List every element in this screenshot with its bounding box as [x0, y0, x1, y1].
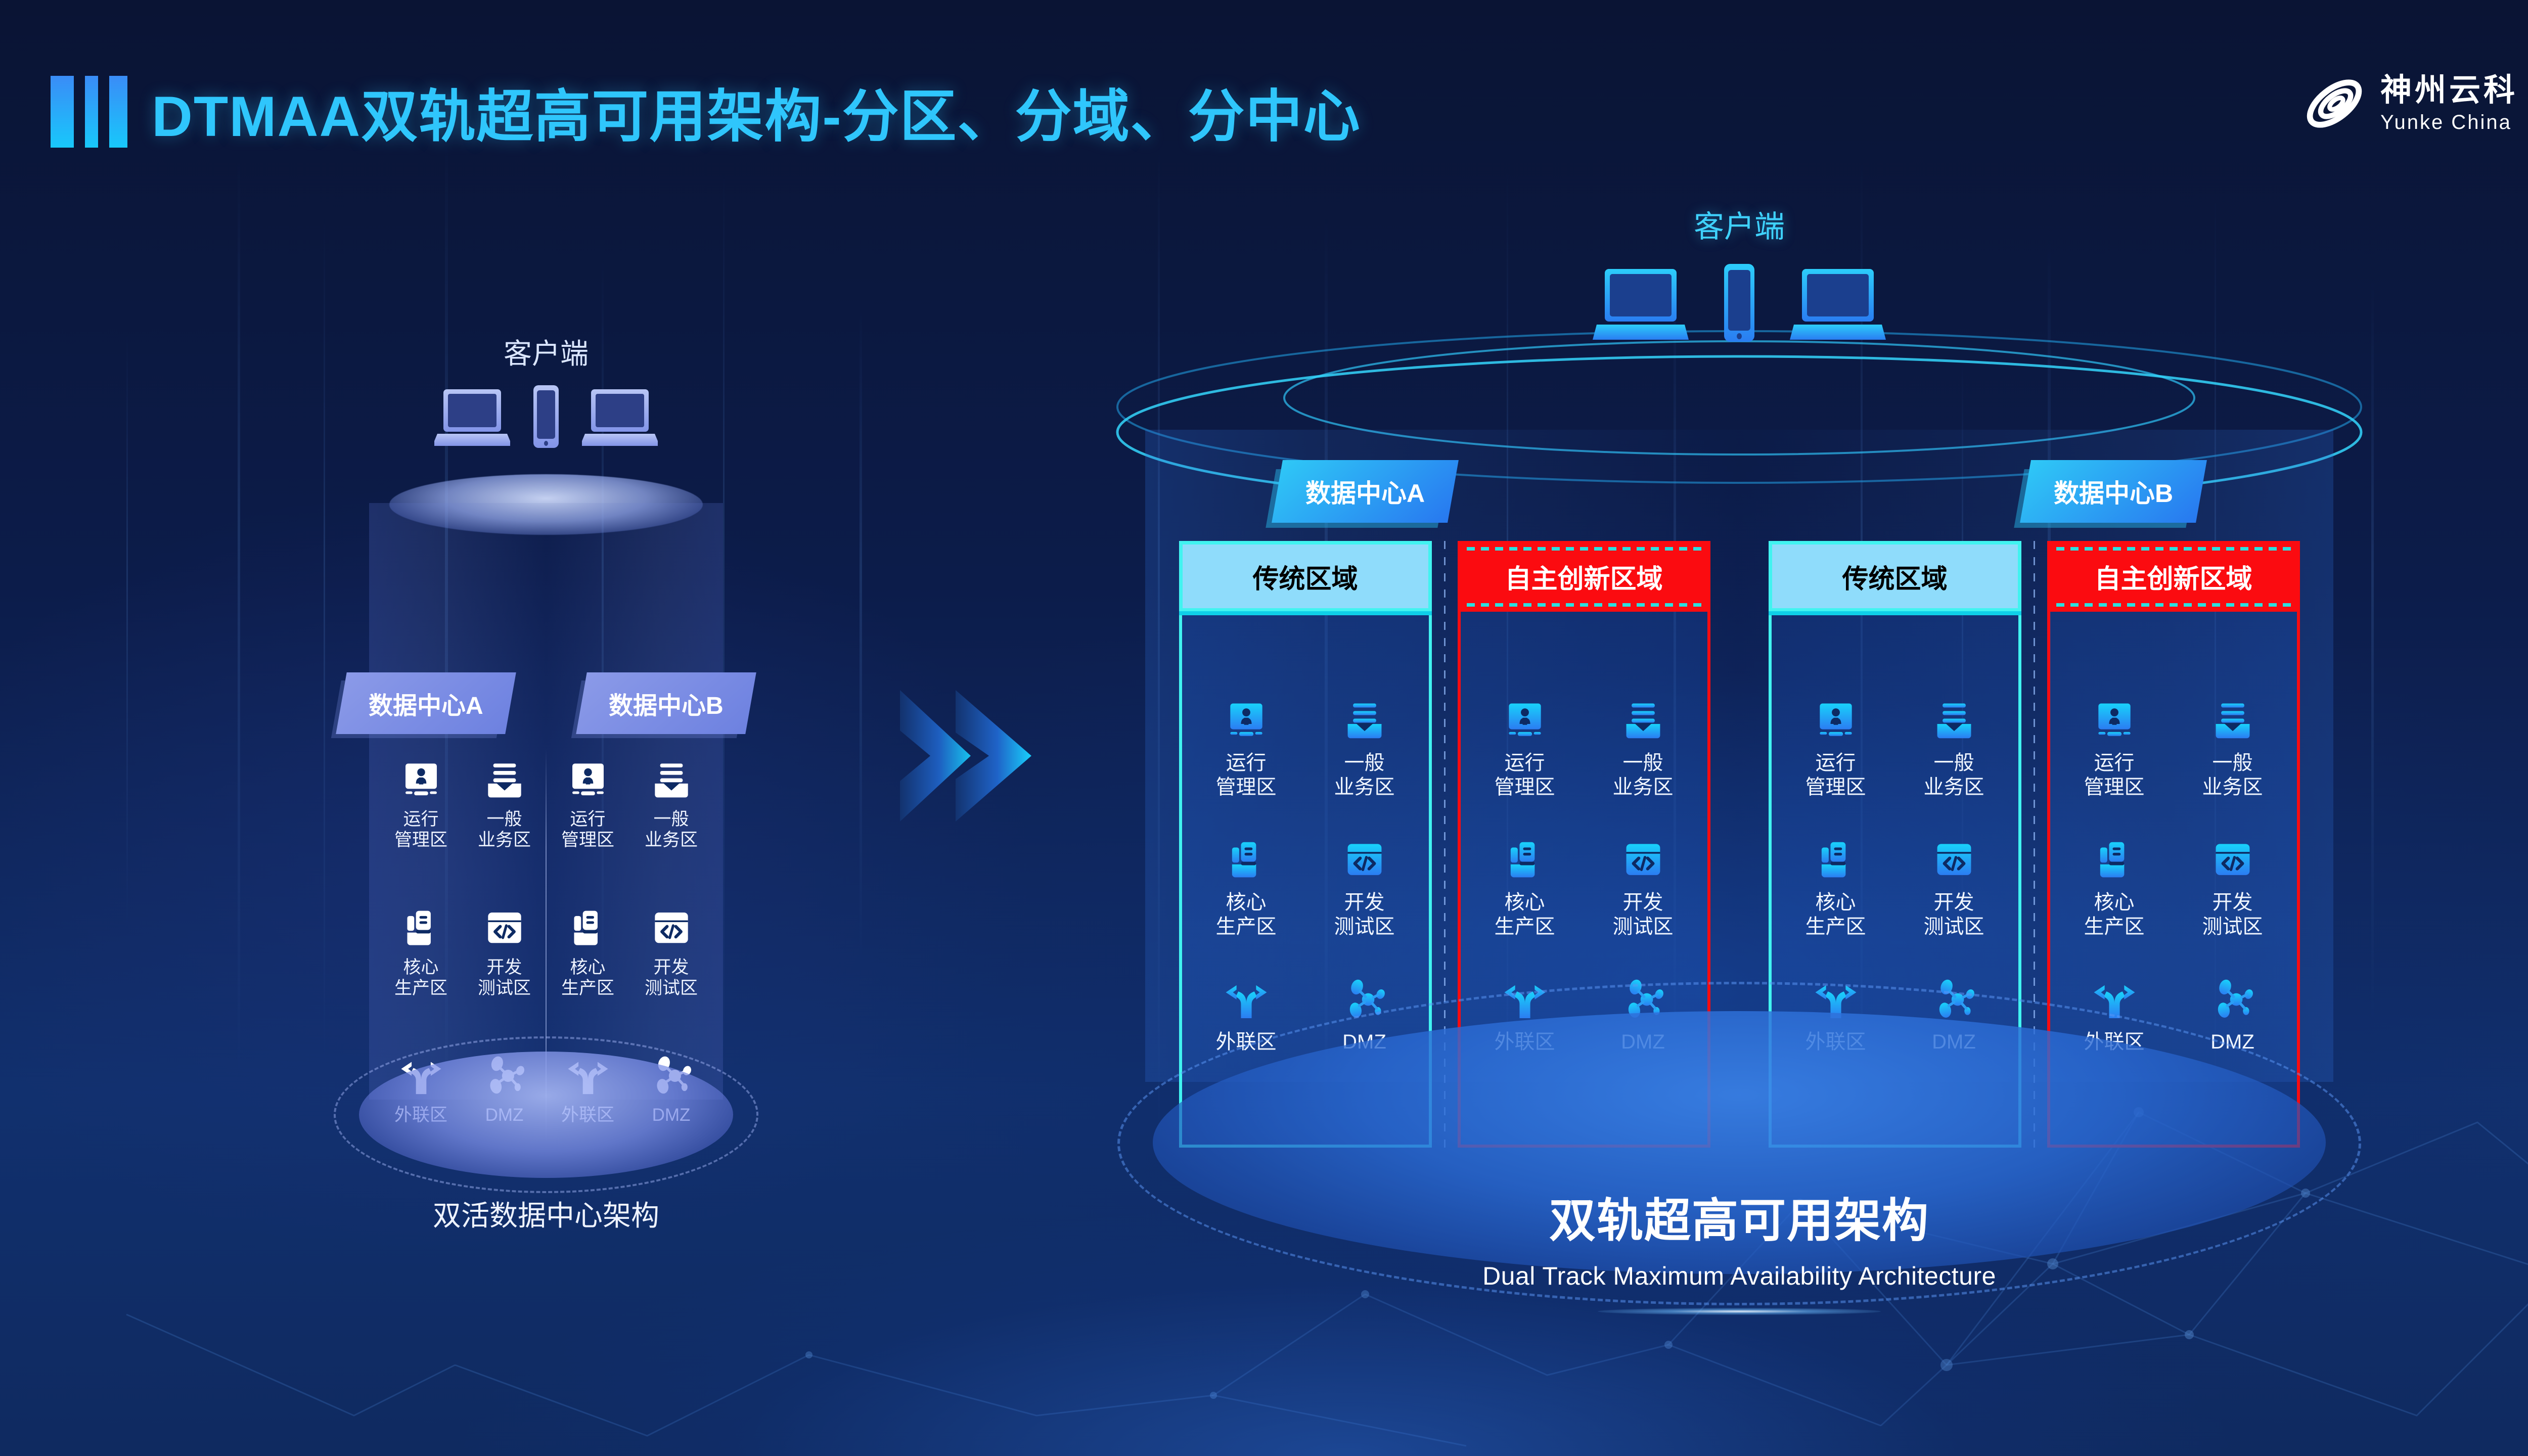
zone-ops-management[interactable]: 运行 管理区 — [1777, 698, 1895, 799]
right-datacenter-a-chip[interactable]: 数据中心A — [1272, 460, 1459, 523]
zone-core-production[interactable]: 核心 生产区 — [379, 906, 463, 999]
page-title: DTMAA双轨超高可用架构-分区、分域、分中心 — [152, 71, 1361, 153]
inbox-tray-icon — [2210, 698, 2255, 743]
server-rack-icon — [399, 906, 443, 950]
inbox-tray-icon — [1932, 698, 1976, 743]
zone-label: 开发 测试区 — [2202, 890, 2263, 939]
zone-general-business[interactable]: 一般 业务区 — [1895, 698, 2013, 799]
right-datacenter-b-label: 数据中心B — [2054, 473, 2173, 510]
smartphone-icon — [1720, 263, 1758, 343]
page-header: DTMAA双轨超高可用架构-分区、分域、分中心 神州云科 Yunke China — [0, 0, 2528, 172]
zone-dev-test[interactable]: 开发 测试区 — [1305, 838, 1424, 939]
inbox-tray-icon — [650, 758, 693, 802]
right-client-devices — [1593, 263, 1886, 343]
zone-dev-test[interactable]: 开发 测试区 — [629, 906, 713, 999]
zone-label: 核心 生产区 — [394, 957, 447, 999]
smartphone-icon — [530, 384, 562, 449]
zone-label: 运行 管理区 — [1805, 751, 1866, 799]
laptop-icon — [434, 387, 510, 449]
zone-label: 运行 管理区 — [561, 809, 614, 851]
inbox-tray-icon — [1621, 698, 1665, 743]
inbox-tray-icon — [483, 758, 526, 802]
laptop-icon — [1593, 267, 1689, 343]
zone-label: 一般 业务区 — [645, 809, 698, 851]
caption-cn: 双轨超高可用架构 — [991, 1183, 2488, 1250]
brand-name-en: Yunke China — [2380, 112, 2518, 132]
double-chevron-right-icon — [895, 680, 1062, 832]
server-rack-icon — [2092, 838, 2137, 882]
left-client-label: 客户端 — [192, 331, 900, 372]
zone-label: 一般 业务区 — [1613, 751, 1674, 799]
zone-label: 开发 测试区 — [1924, 890, 1984, 939]
left-architecture-diagram: 客户端 数据中心A 数据中心B — [192, 303, 900, 1264]
zone-core-production[interactable]: 核心 生产区 — [546, 906, 629, 999]
brand-name-cn: 神州云科 — [2380, 75, 2518, 106]
zone-label: 运行 管理区 — [394, 809, 447, 851]
zone-general-business[interactable]: 一般 业务区 — [1584, 698, 1702, 799]
zone-core-production[interactable]: 核心 生产区 — [1187, 838, 1305, 939]
left-datacenter-labels: 数据中心A 数据中心B — [192, 672, 900, 734]
right-architecture-diagram: 客户端 数据中心A 数据中心B — [991, 192, 2488, 1294]
right-datacenter-labels: 数据中心A 数据中心B — [991, 460, 2488, 523]
brand-logo: 神州云科 Yunke China — [2301, 71, 2518, 136]
user-monitor-icon — [399, 758, 443, 802]
code-window-icon — [2210, 838, 2255, 882]
panel-title: 传统区域 — [1179, 541, 1432, 612]
zone-label: 核心 生产区 — [1495, 890, 1555, 939]
right-diagram-caption: 双轨超高可用架构 Dual Track Maximum Availability… — [991, 1183, 2488, 1315]
zone-ops-management[interactable]: 运行 管理区 — [1187, 698, 1305, 799]
user-monitor-icon — [1224, 698, 1269, 743]
zone-ops-management[interactable]: 运行 管理区 — [2055, 698, 2174, 799]
user-monitor-icon — [566, 758, 610, 802]
zone-core-production[interactable]: 核心 生产区 — [1466, 838, 1584, 939]
user-monitor-icon — [1503, 698, 1547, 743]
left-datacenter-a-chip[interactable]: 数据中心A — [336, 672, 516, 734]
left-base-platform — [359, 1052, 733, 1178]
caption-glow — [1598, 1308, 1881, 1315]
panel-title: 传统区域 — [1769, 541, 2021, 612]
zone-label: 一般 业务区 — [1334, 751, 1395, 799]
zone-label: 开发 测试区 — [1334, 890, 1395, 939]
zone-label: 开发 测试区 — [645, 957, 698, 999]
zone-general-business[interactable]: 一般 业务区 — [1305, 698, 1424, 799]
zone-ops-management[interactable]: 运行 管理区 — [379, 758, 463, 851]
code-window-icon — [1621, 838, 1665, 882]
server-rack-icon — [566, 906, 610, 950]
zone-label: 一般 业务区 — [2202, 751, 2263, 799]
server-rack-icon — [1503, 838, 1547, 882]
left-datacenter-b-label: 数据中心B — [609, 686, 724, 721]
code-window-icon — [650, 906, 693, 950]
server-rack-icon — [1814, 838, 1858, 882]
zone-label: 一般 业务区 — [1924, 751, 1984, 799]
code-window-icon — [1932, 838, 1976, 882]
zone-core-production[interactable]: 核心 生产区 — [2055, 838, 2174, 939]
right-datacenter-a-label: 数据中心A — [1305, 473, 1425, 510]
zone-ops-management[interactable]: 运行 管理区 — [546, 758, 629, 851]
zone-label: 开发 测试区 — [1613, 890, 1674, 939]
right-datacenter-b-chip[interactable]: 数据中心B — [2020, 460, 2207, 523]
left-datacenter-a-label: 数据中心A — [369, 686, 483, 721]
zone-label: 核心 生产区 — [1216, 890, 1277, 939]
laptop-icon — [1790, 267, 1886, 343]
zone-label: 开发 测试区 — [478, 957, 531, 999]
zone-general-business[interactable]: 一般 业务区 — [463, 758, 546, 851]
zone-dev-test[interactable]: 开发 测试区 — [463, 906, 546, 999]
caption-en: Dual Track Maximum Availability Architec… — [991, 1261, 2488, 1291]
left-diagram-caption: 双活数据中心架构 — [192, 1193, 900, 1234]
transition-arrow — [895, 680, 1062, 832]
user-monitor-icon — [1814, 698, 1858, 743]
zone-label: 核心 生产区 — [2084, 890, 2145, 939]
zone-dev-test[interactable]: 开发 测试区 — [1895, 838, 2013, 939]
zone-ops-management[interactable]: 运行 管理区 — [1466, 698, 1584, 799]
right-client-label: 客户端 — [991, 202, 2488, 246]
branch-arrows-icon — [1224, 977, 1269, 1022]
yunke-swirl-logo-icon — [2301, 71, 2367, 136]
network-nodes-icon — [2210, 977, 2255, 1022]
zone-general-business[interactable]: 一般 业务区 — [629, 758, 713, 851]
left-client-devices — [434, 384, 658, 449]
zone-label: 运行 管理区 — [1216, 751, 1277, 799]
server-rack-icon — [1224, 838, 1269, 882]
user-monitor-icon — [2092, 698, 2137, 743]
left-datacenter-b-chip[interactable]: 数据中心B — [576, 672, 756, 734]
zone-label: 运行 管理区 — [2084, 751, 2145, 799]
laptop-icon — [582, 387, 658, 449]
code-window-icon — [1342, 838, 1387, 882]
zone-label: 运行 管理区 — [1495, 751, 1555, 799]
panel-title: 自主创新区域 — [2047, 541, 2300, 612]
header-accent-bars-icon — [51, 76, 127, 148]
panel-title: 自主创新区域 — [1458, 541, 1710, 612]
zone-dev-test[interactable]: 开发 测试区 — [1584, 838, 1702, 939]
zone-label: 一般 业务区 — [478, 809, 531, 851]
code-window-icon — [483, 906, 526, 950]
zone-core-production[interactable]: 核心 生产区 — [1777, 838, 1895, 939]
zone-label: 核心 生产区 — [561, 957, 614, 999]
zone-label: 核心 生产区 — [1805, 890, 1866, 939]
zone-general-business[interactable]: 一般 业务区 — [2174, 698, 2292, 799]
inbox-tray-icon — [1342, 698, 1387, 743]
zone-dev-test[interactable]: 开发 测试区 — [2174, 838, 2292, 939]
